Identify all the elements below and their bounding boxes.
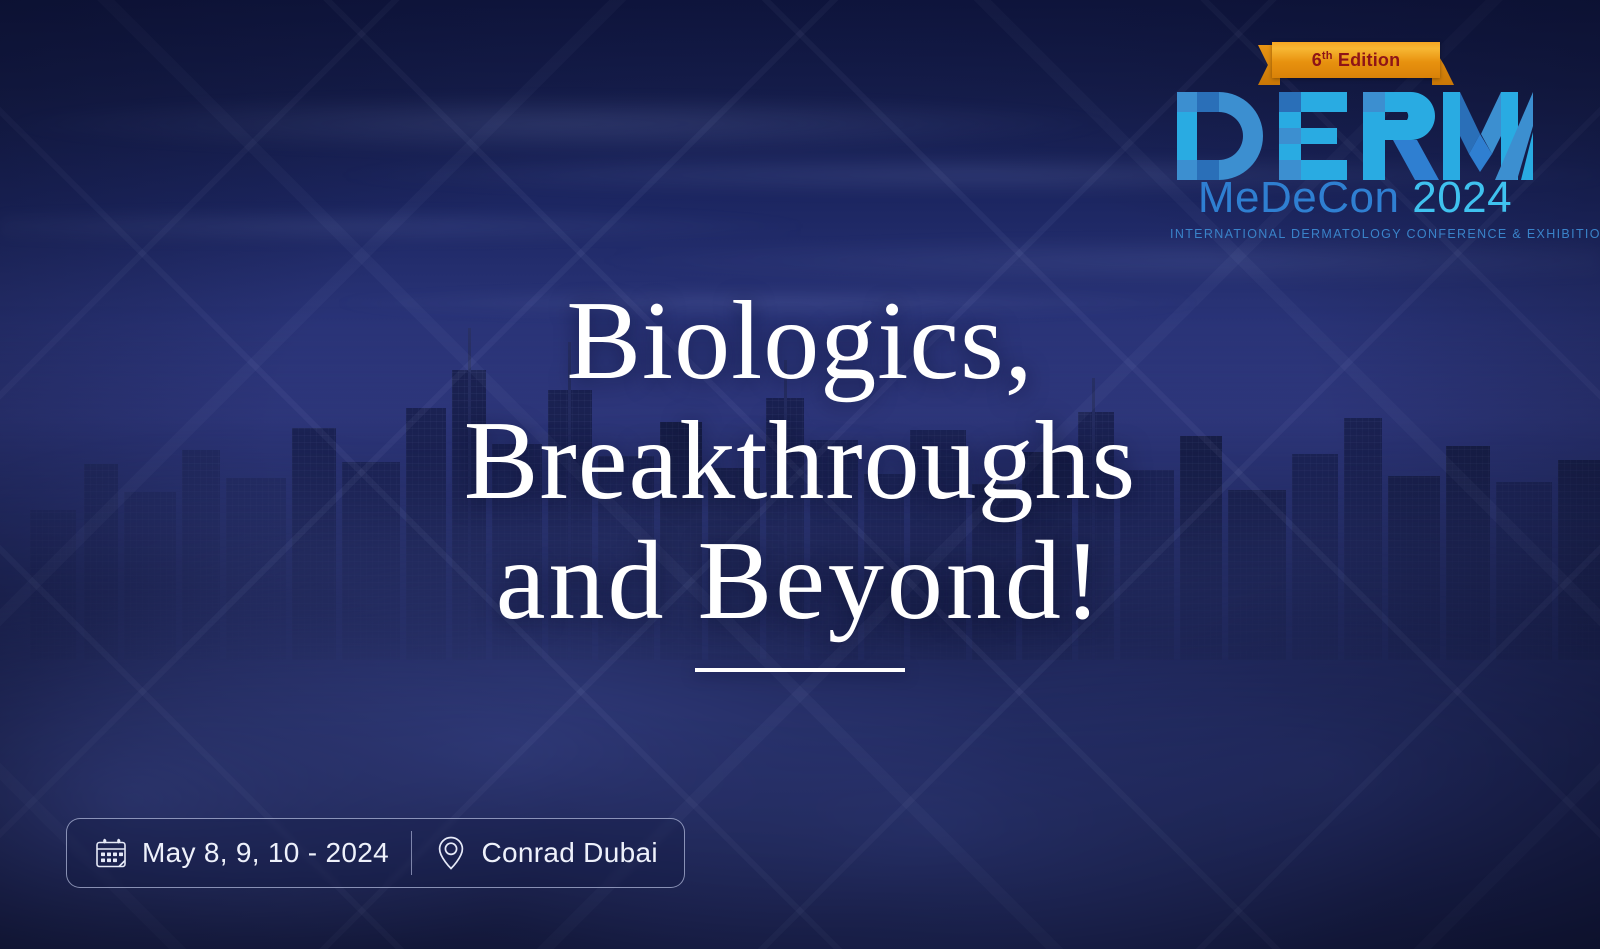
headline-line-1: Biologics, <box>0 282 1600 402</box>
event-info-bar: May 8, 9, 10 - 2024 Conrad Dubai <box>66 818 685 888</box>
edition-label: 6th Edition <box>1312 50 1401 71</box>
calendar-icon <box>93 835 129 871</box>
event-venue-label: Conrad Dubai <box>481 837 657 869</box>
location-pin-icon <box>434 834 468 872</box>
event-date-item: May 8, 9, 10 - 2024 <box>93 835 389 871</box>
derma-wordmark <box>1177 92 1533 180</box>
info-divider <box>411 831 413 875</box>
page-title: Biologics, Breakthroughs and Beyond! <box>0 282 1600 641</box>
conference-banner: 6th Edition <box>0 0 1600 949</box>
event-logo-block: 6th Edition <box>1170 42 1540 241</box>
event-subtitle: MeDeCon 2024 <box>1170 176 1540 220</box>
event-tagline: INTERNATIONAL DERMATOLOGY CONFERENCE & E… <box>1170 227 1540 241</box>
headline-line-2: Breakthroughs <box>0 402 1600 522</box>
title-divider <box>695 668 905 672</box>
event-date-label: May 8, 9, 10 - 2024 <box>142 837 389 869</box>
edition-ribbon: 6th Edition <box>1258 42 1454 84</box>
event-venue-item: Conrad Dubai <box>434 834 657 872</box>
headline-line-3: and Beyond! <box>0 522 1600 642</box>
